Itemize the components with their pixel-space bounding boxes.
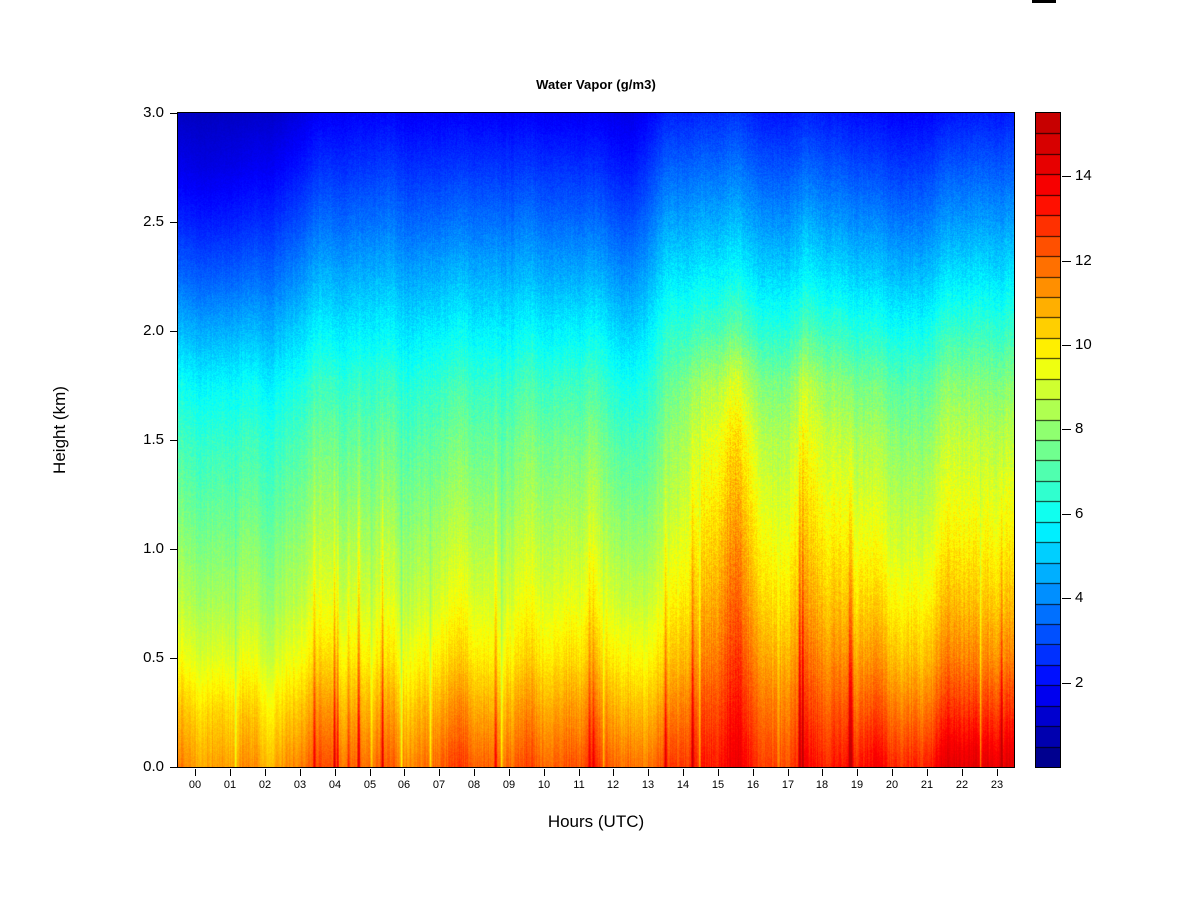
water-vapor-figure: Water Vapor (g/m3) 0.00.51.01.52.02.53.0…: [0, 0, 1200, 900]
x-tick-label: 13: [628, 779, 668, 791]
x-tick-label: 12: [593, 779, 633, 791]
y-tick-mark: [170, 658, 177, 659]
colorbar-tick-mark: [1062, 176, 1071, 177]
colorbar-tick-mark: [1062, 598, 1071, 599]
colorbar-tick-label: 14: [1075, 167, 1092, 184]
colorbar-tick-mark: [1062, 514, 1071, 515]
x-tick-mark: [613, 769, 614, 776]
plot-panel[interactable]: [177, 112, 1015, 768]
y-tick-label: 2.0: [108, 322, 164, 339]
colorbar-canvas[interactable]: [1036, 113, 1060, 767]
x-tick-label: 23: [977, 779, 1017, 791]
y-tick-label: 3.0: [108, 104, 164, 121]
y-tick-label: 1.5: [108, 431, 164, 448]
x-tick-mark: [335, 769, 336, 776]
y-tick-label: 0.0: [108, 758, 164, 775]
x-tick-mark: [718, 769, 719, 776]
x-tick-mark: [544, 769, 545, 776]
x-tick-mark: [230, 769, 231, 776]
x-tick-mark: [683, 769, 684, 776]
colorbar-tick-label: 12: [1075, 252, 1092, 269]
x-tick-label: 00: [175, 779, 215, 791]
y-tick-mark: [170, 767, 177, 768]
x-tick-label: 04: [315, 779, 355, 791]
x-tick-mark: [822, 769, 823, 776]
colorbar-tick-mark: [1062, 345, 1071, 346]
colorbar-tick-mark: [1062, 429, 1071, 430]
x-tick-mark: [927, 769, 928, 776]
x-tick-label: 16: [733, 779, 773, 791]
x-tick-mark: [509, 769, 510, 776]
x-tick-label: 20: [872, 779, 912, 791]
y-axis-label: Height (km): [50, 350, 70, 510]
colorbar-tick-label: 8: [1075, 420, 1083, 437]
x-tick-mark: [404, 769, 405, 776]
x-tick-mark: [370, 769, 371, 776]
x-tick-label: 01: [210, 779, 250, 791]
x-tick-mark: [648, 769, 649, 776]
x-tick-mark: [788, 769, 789, 776]
x-tick-label: 08: [454, 779, 494, 791]
x-tick-label: 21: [907, 779, 947, 791]
x-axis-label: Hours (UTC): [177, 812, 1015, 832]
colorbar-tick-label: 10: [1075, 336, 1092, 353]
colorbar-tick-label: 6: [1075, 505, 1083, 522]
x-tick-mark: [300, 769, 301, 776]
x-tick-mark: [579, 769, 580, 776]
x-tick-label: 18: [802, 779, 842, 791]
colorbar-tick-label: 4: [1075, 589, 1083, 606]
x-tick-mark: [857, 769, 858, 776]
colorbar-panel[interactable]: [1035, 112, 1061, 768]
colorbar-tick-mark: [1062, 683, 1071, 684]
y-tick-mark: [170, 222, 177, 223]
x-tick-label: 19: [837, 779, 877, 791]
y-tick-mark: [170, 440, 177, 441]
x-tick-mark: [997, 769, 998, 776]
x-tick-mark: [962, 769, 963, 776]
x-tick-mark: [439, 769, 440, 776]
x-tick-mark: [474, 769, 475, 776]
colorbar-tick-label: 2: [1075, 674, 1083, 691]
y-tick-mark: [170, 331, 177, 332]
x-tick-label: 10: [524, 779, 564, 791]
x-tick-label: 09: [489, 779, 529, 791]
colorbar-tick-mark: [1062, 261, 1071, 262]
x-tick-label: 07: [419, 779, 459, 791]
x-tick-mark: [265, 769, 266, 776]
heatmap-canvas[interactable]: [178, 113, 1014, 767]
x-tick-label: 15: [698, 779, 738, 791]
y-tick-mark: [170, 113, 177, 114]
y-tick-label: 2.5: [108, 213, 164, 230]
top-edge-artifact: [1032, 0, 1056, 3]
x-tick-label: 14: [663, 779, 703, 791]
page-title: Water Vapor (g/m3): [177, 77, 1015, 92]
y-tick-label: 1.0: [108, 540, 164, 557]
y-tick-label: 0.5: [108, 649, 164, 666]
x-tick-mark: [892, 769, 893, 776]
x-tick-mark: [753, 769, 754, 776]
x-tick-mark: [195, 769, 196, 776]
x-tick-label: 06: [384, 779, 424, 791]
x-tick-label: 22: [942, 779, 982, 791]
x-tick-label: 03: [280, 779, 320, 791]
y-tick-mark: [170, 549, 177, 550]
x-tick-label: 02: [245, 779, 285, 791]
